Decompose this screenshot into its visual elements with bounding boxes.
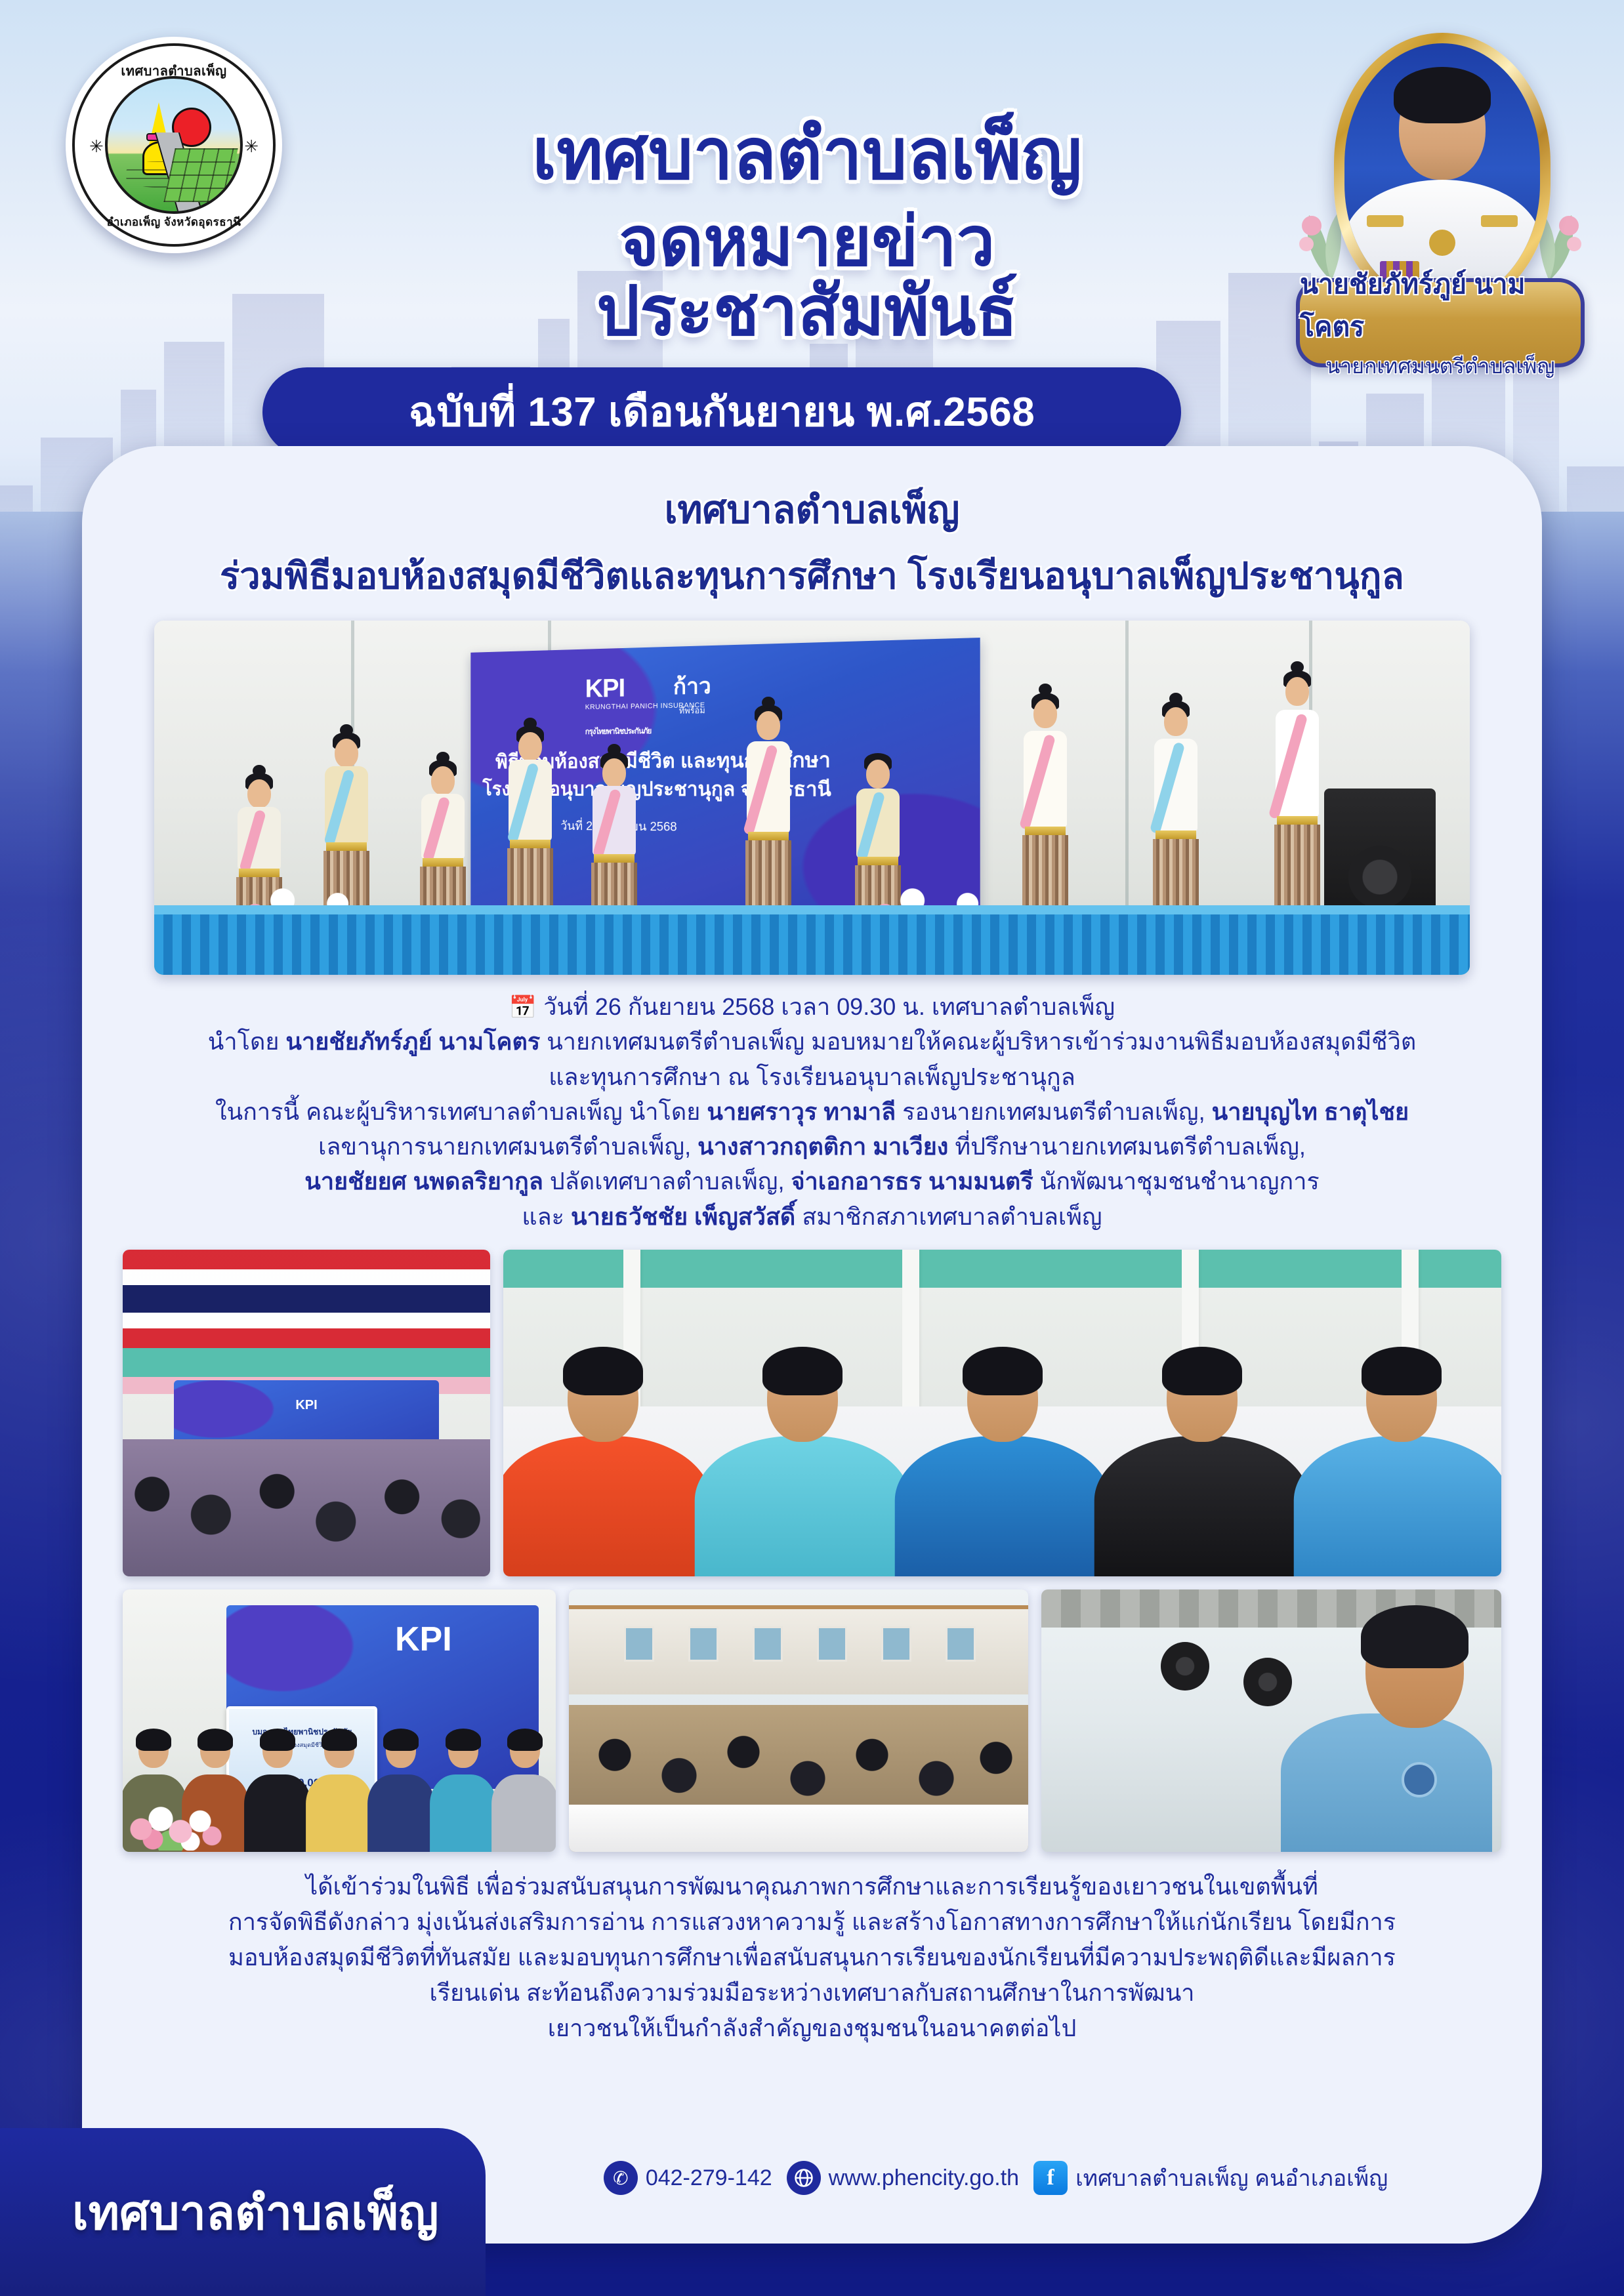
closing-line-4: เยาวชนให้เป็นกำลังสำคัญของชุมชนในอนาคตต่… [123,2011,1501,2046]
article-headline-line2: ร่วมพิธีมอบห้องสมุดมีชีวิตและทุนการศึกษา… [123,546,1501,605]
contact-facebook[interactable]: f เทศบาลตำบลเพ็ญ คนอำเภอเพ็ญ [1033,2160,1388,2196]
photo-official-portrait [1041,1589,1501,1852]
photo-check-presentation: KPI บมจ. กรุงไทยพานิชประกันภัย มอบห้องสม… [123,1589,556,1852]
photo-officials-seated [503,1250,1501,1576]
newsletter-title: จดหมายข่าวประชาสัมพันธ์ [420,207,1194,346]
issue-label: ฉบับที่ 137 เดือนกันยายน พ.ศ.2568 [409,380,1035,444]
closing-line-2: มอบห้องสมุดมีชีวิตที่ทันสมัย และมอบทุนกา… [123,1940,1501,1975]
closing-line-0: ได้เข้าร่วมในพิธี เพื่อร่วมสนับสนุนการพั… [123,1869,1501,1904]
article-date-line: 📅วันที่ 26 กันยายน 2568 เวลา 09.30 น. เท… [123,989,1501,1024]
website-url: www.phencity.go.th [829,2165,1019,2191]
phone-number: 042-279-142 [646,2165,772,2191]
article-headline: เทศบาลตำบลเพ็ญ ร่วมพิธีมอบห้องสมุดมีชีวิ… [123,479,1501,605]
article-line-3: เลขานุการนายกเทศมนตรีตำบลเพ็ญ, นางสาวกฤต… [123,1129,1501,1164]
article-line-4: นายชัยยศ นพดลริยากูล ปลัดเทศบาลตำบลเพ็ญ,… [123,1164,1501,1199]
calendar-icon: 📅 [509,995,537,1020]
article-line-1: และทุนการศึกษา ณ โรงเรียนอนุบาลเพ็ญประชา… [123,1059,1501,1094]
newsletter-poster: เทศบาลตำบลเพ็ญ ✳ ✳ อำเภอเพ็ญ จังหวัดอุดร… [0,0,1624,2296]
hero-photo: KPIKRUNGTHAI PANICH INSURANCEกรุงไทยพานิ… [154,621,1470,975]
contact-phone[interactable]: ✆ 042-279-142 [604,2161,772,2195]
kpi-logo-thai: กรุงไทยพานิชประกันภัย [585,726,652,736]
stage-skirt [154,912,1470,975]
front-table [569,1805,1028,1852]
article-line-2: ในการนี้ คณะผู้บริหารเทศบาลตำบลเพ็ญ นำโด… [123,1094,1501,1129]
uniform-epaulette-left [1367,215,1404,227]
contact-website[interactable]: www.phencity.go.th [787,2161,1019,2195]
issue-badge: ฉบับที่ 137 เดือนกันยายน พ.ศ.2568 [262,367,1181,457]
content-card: เทศบาลตำบลเพ็ญ ร่วมพิธีมอบห้องสมุดมีชีวิ… [82,446,1542,2244]
kao-slogan-sub: ทีพร้อม [673,703,711,718]
municipal-seal: เทศบาลตำบลเพ็ญ ✳ ✳ อำเภอเพ็ญ จังหวัดอุดร… [66,37,282,253]
org-title: เทศบาลตำบลเพ็ญ [420,118,1194,190]
facebook-page: เทศบาลตำบลเพ็ญ คนอำเภอเพ็ญ [1075,2160,1388,2196]
footer-org-tab: เทศบาลตำบลเพ็ญ [0,2128,486,2296]
footer-org-label: เทศบาลตำบลเพ็ญ [72,2175,438,2250]
mayor-hair [1394,67,1491,123]
thai-flag-drape [123,1250,490,1348]
closing-line-1: การจัดพิธีดังกล่าว มุ่งเน้นส่งเสริมการอ่… [123,1904,1501,1940]
seal-field-icon [163,148,238,202]
seal-star-right-icon: ✳ [244,138,259,155]
article-closing: ได้เข้าร่วมในพิธี เพื่อร่วมสนับสนุนการพั… [123,1869,1501,2046]
closing-line-3: เรียนเด่น สะท้อนถึงความร่วมมือระหว่างเทศ… [123,1975,1501,2011]
seal-outer-ring: เทศบาลตำบลเพ็ญ ✳ ✳ อำเภอเพ็ญ จังหวัดอุดร… [72,43,276,247]
globe-icon [787,2161,821,2195]
seal-emblem [105,76,243,214]
photo-grid: KPI พิธีมอบห้องสมุดมีชีวิต และทุนการศึกษ… [123,1250,1501,1852]
article-date-text: วันที่ 26 กันยายน 2568 เวลา 09.30 น. เทศ… [543,993,1115,1020]
facebook-icon: f [1033,2161,1068,2195]
kao-slogan: ก้าวทีพร้อม [673,668,711,718]
phone-icon: ✆ [604,2161,638,2195]
photo-audience [569,1589,1028,1852]
article-headline-line1: เทศบาลตำบลเพ็ญ [123,479,1501,540]
photo-ceremony-hall: KPI พิธีมอบห้องสมุดมีชีวิต และทุนการศึกษ… [123,1250,490,1576]
article-paragraph-lines: นำโดย นายชัยภัทร์ภูย์ นามโคตร นายกเทศมนต… [123,1024,1501,1234]
mayor-role: นายกเทศมนตรีตำบลเพ็ญ [1325,350,1554,383]
seal-star-left-icon: ✳ [89,138,104,155]
seal-bottom-text: อำเภอเพ็ญ จังหวัดอุดรธานี [75,213,273,231]
uniform-epaulette-right [1481,215,1518,227]
mayor-portrait-block: นายชัยภัทร์ภูย์ นามโคตร นายกเทศมนตรีตำบล… [1296,26,1585,367]
article-line-0: นำโดย นายชัยภัทร์ภูย์ นามโคตร นายกเทศมนต… [123,1024,1501,1059]
poster-header: เทศบาลตำบลเพ็ญ ✳ ✳ อำเภอเพ็ญ จังหวัดอุดร… [0,0,1624,459]
audience-silhouettes [123,1439,490,1576]
article-body: 📅วันที่ 26 กันยายน 2568 เวลา 09.30 น. เท… [123,989,1501,1234]
header-titles: เทศบาลตำบลเพ็ญ จดหมายข่าวประชาสัมพันธ์ [420,118,1194,346]
article-line-5: และ นายธวัชชัย เพ็ญสวัสดิ์ สมาชิกสภาเทศบ… [123,1199,1501,1234]
uniform-medal-icon [1429,230,1455,256]
mayor-name: นายชัยภัทร์ภูย์ นามโคตร [1300,263,1581,348]
mayor-nameplate: นายชัยภัทร์ภูย์ นามโคตร นายกเทศมนตรีตำบล… [1296,278,1585,367]
seated-officials [503,1334,1501,1576]
